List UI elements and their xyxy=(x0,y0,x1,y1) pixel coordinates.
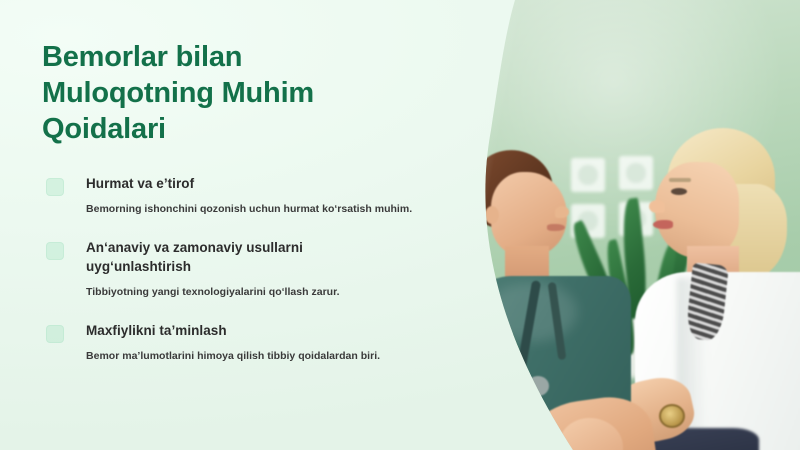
nurse-ear xyxy=(485,206,499,224)
photo-panel xyxy=(455,0,800,450)
wristwatch-icon xyxy=(659,404,685,428)
text-content-column: Bemorlar bilan Muloqotning Muhim Qoidala… xyxy=(42,40,472,364)
stethoscope-tube xyxy=(514,280,541,386)
patient-figure xyxy=(625,128,800,450)
list-item: An‘anaviy va zamonaviy usullarni uyg‘unl… xyxy=(42,238,472,300)
list-item-description: Tibbiyotning yangi texnologiyalarini qo‘… xyxy=(86,285,472,300)
checkbox-marker-icon xyxy=(46,325,64,343)
stethoscope-tube xyxy=(548,282,567,360)
list-item-heading: Maxfiylikni ta’minlash xyxy=(86,321,472,340)
rules-list: Hurmat va e’tirof Bemorning ishonchini q… xyxy=(42,174,472,364)
nurse-nose xyxy=(555,206,569,218)
list-item-heading: An‘anaviy va zamonaviy usullarni uyg‘unl… xyxy=(86,238,472,276)
patient-lips xyxy=(653,220,673,229)
list-item-description: Bemor ma’lumotlarini himoya qilish tibbi… xyxy=(86,349,472,364)
stethoscope-bell xyxy=(527,376,549,396)
page-title: Bemorlar bilan Muloqotning Muhim Qoidala… xyxy=(42,40,472,148)
photo-clip-shape xyxy=(455,0,800,450)
stethoscope-icon xyxy=(513,280,583,400)
patient-eyebrow xyxy=(669,178,691,182)
list-item-description: Bemorning ishonchini qozonish uchun hurm… xyxy=(86,202,472,217)
patient-nose xyxy=(649,200,665,213)
slide-root: Bemorlar bilan Muloqotning Muhim Qoidala… xyxy=(0,0,800,450)
checkbox-marker-icon xyxy=(46,178,64,196)
list-item-heading: Hurmat va e’tirof xyxy=(86,174,472,193)
nurse-figure xyxy=(455,150,631,450)
checkbox-marker-icon xyxy=(46,242,64,260)
list-item: Hurmat va e’tirof Bemorning ishonchini q… xyxy=(42,174,472,217)
nurse-lips xyxy=(547,224,565,231)
list-item: Maxfiylikni ta’minlash Bemor ma’lumotlar… xyxy=(42,321,472,364)
patient-face xyxy=(655,162,739,258)
patient-eye xyxy=(671,188,687,195)
